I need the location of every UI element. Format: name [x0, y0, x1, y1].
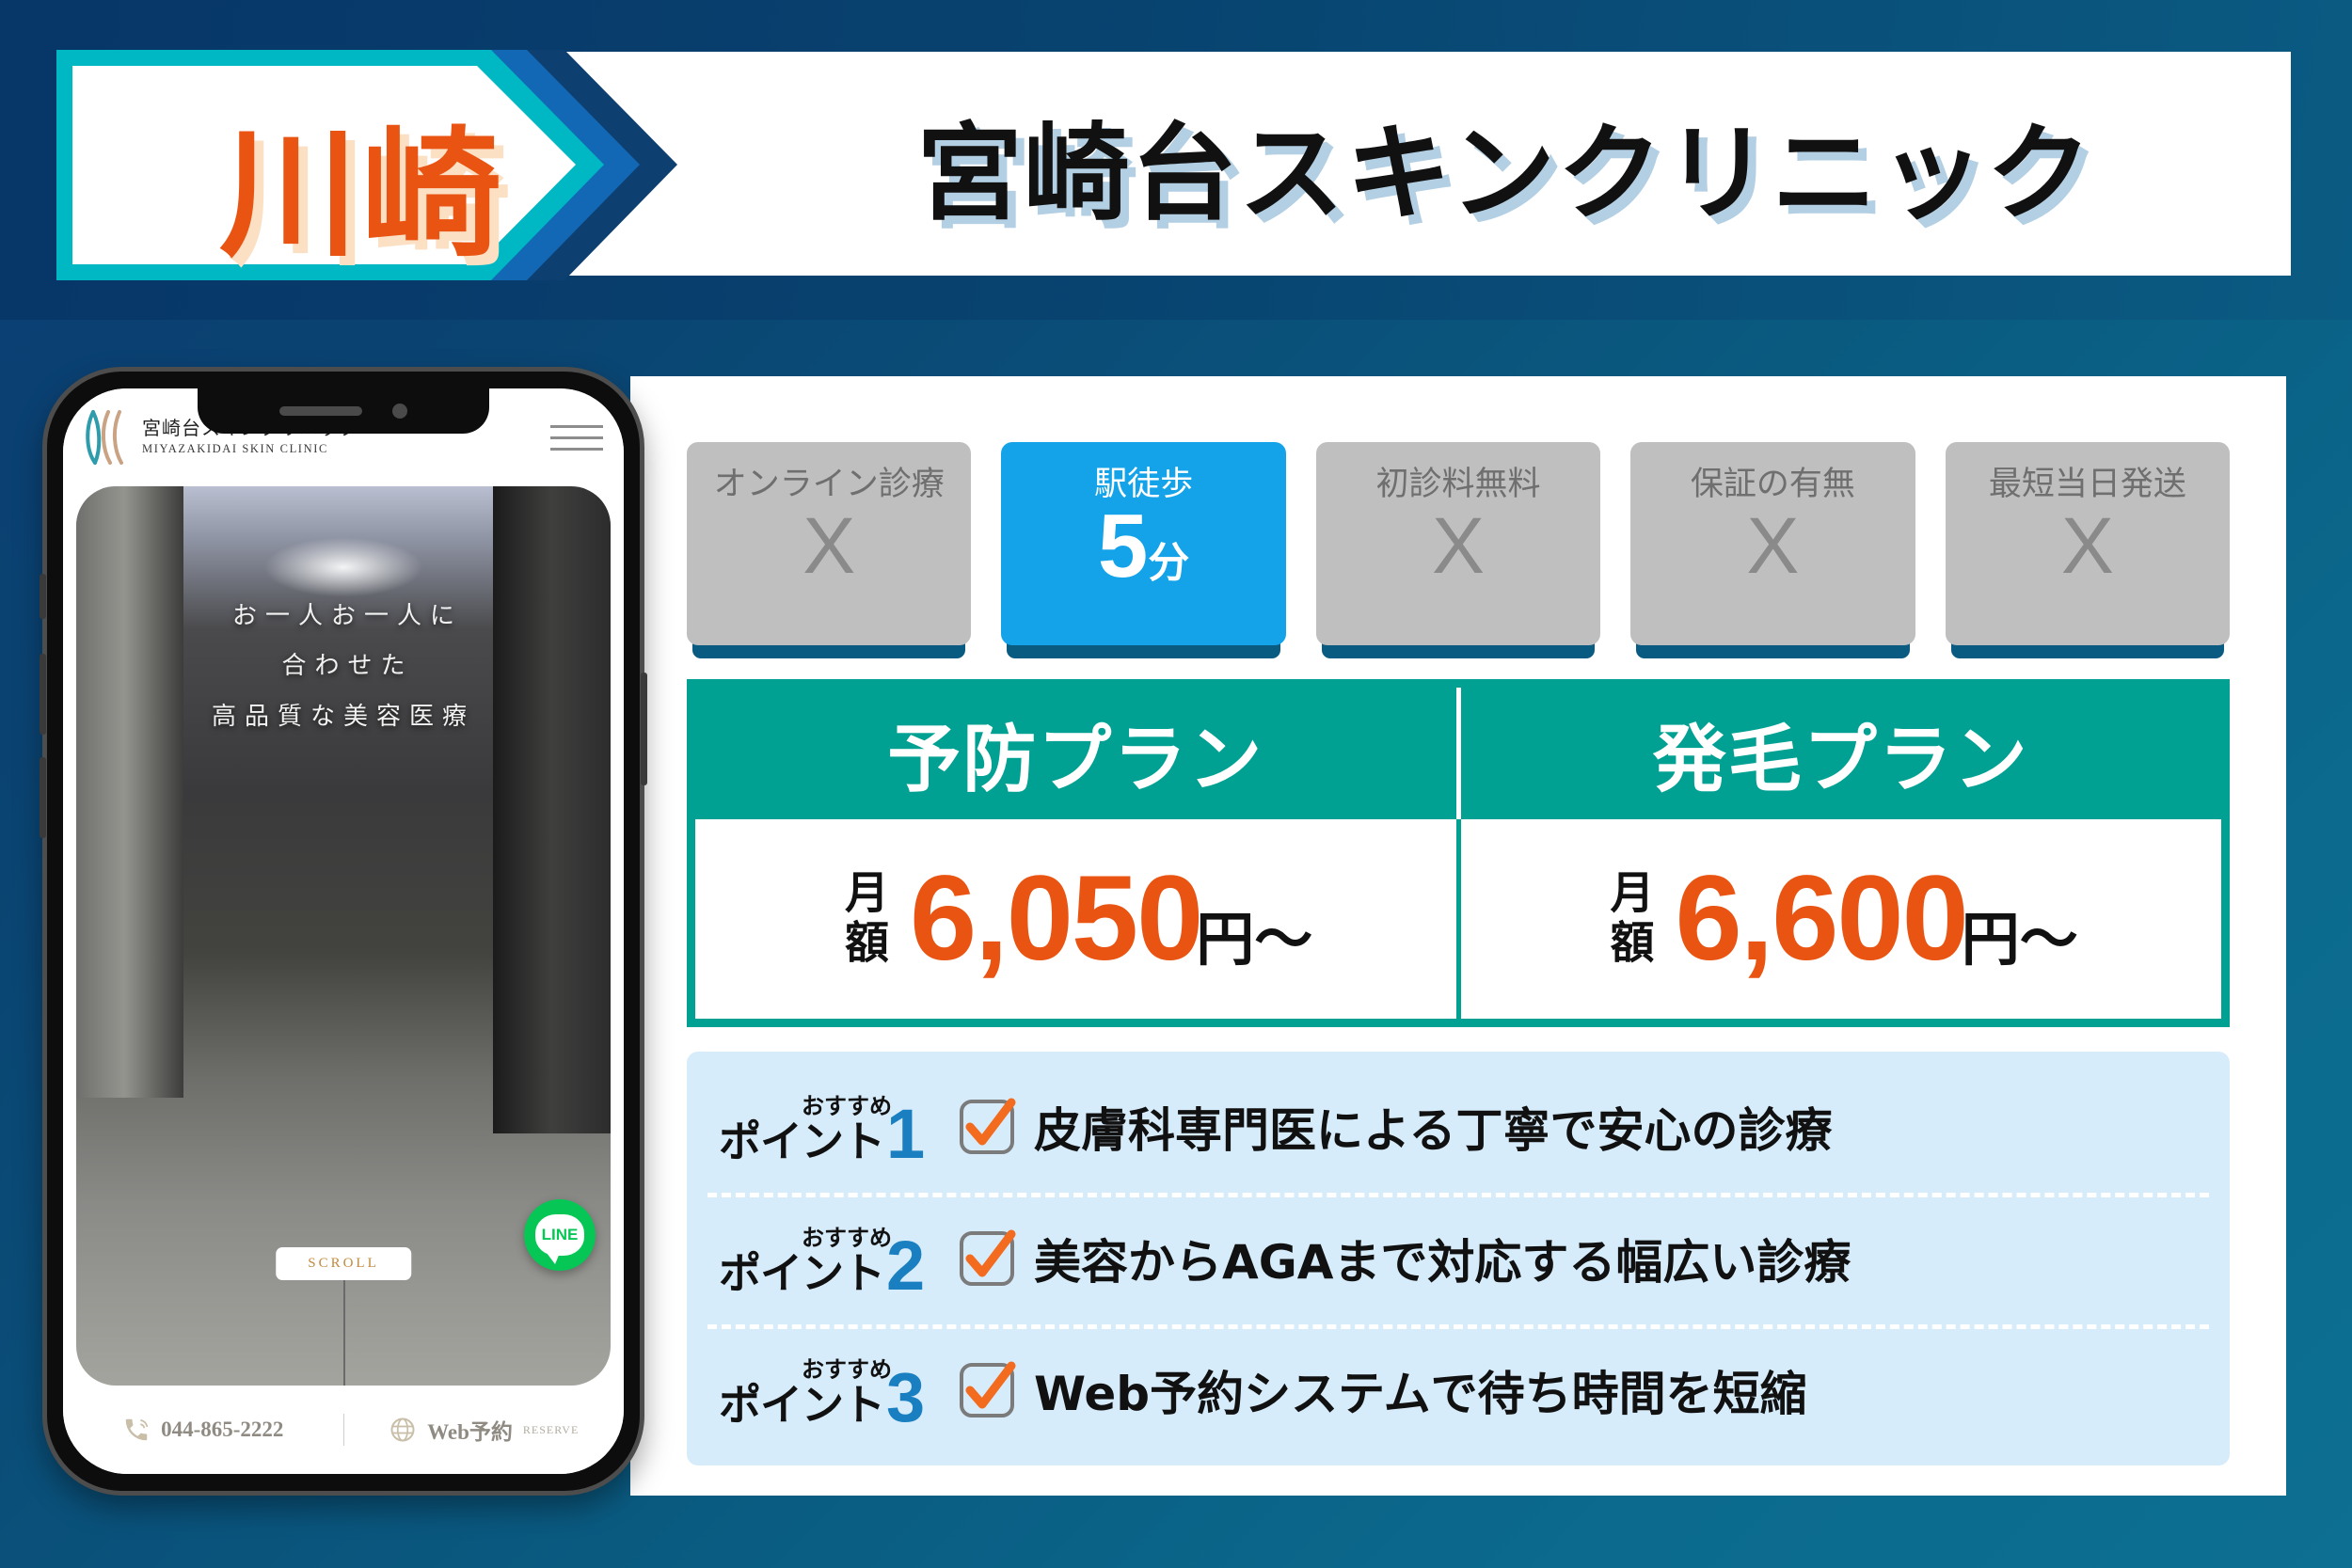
badge-face: オンライン診療 X: [687, 442, 971, 645]
plan-name-prevention: 予防プラン: [695, 688, 1456, 819]
phone-screen: 宮崎台スキンクリニック MIYAZAKIDAI SKIN CLINIC お一人お…: [63, 388, 624, 1474]
feature-badge-walk: 駅徒歩 5分: [1001, 442, 1285, 658]
badge-face: 初診料無料 X: [1316, 442, 1600, 645]
point-word-3: ポイント: [719, 1384, 884, 1426]
earpiece-speaker-icon: [279, 406, 362, 416]
phone-volume-down-button: [40, 757, 46, 838]
line-bubble-icon: LINE: [535, 1214, 584, 1256]
point-text-3: Web予約システムで待ち時間を短縮: [1034, 1356, 1807, 1424]
phone-mute-button: [40, 574, 46, 619]
front-camera-icon: [392, 404, 407, 419]
feature-badge-guarantee: 保証の有無 X: [1630, 442, 1915, 658]
badge-face: 駅徒歩 5分: [1001, 442, 1285, 645]
point-row-1: おすすめ ポイント 1 皮膚科専門医による丁寧で安心の診療: [719, 1061, 2198, 1193]
feature-badge-online: オンライン診療 X: [687, 442, 971, 658]
phone-icon: [122, 1416, 151, 1444]
point-row-3: おすすめ ポイント 3 Web予約システムで待ち時間を短縮: [719, 1324, 2198, 1456]
region-tag-label: 川崎: [160, 106, 564, 257]
hero-line-3: 高品質な美容医療: [76, 692, 611, 742]
hero-headline: お一人お一人に 合わせた 高品質な美容医療: [76, 592, 611, 742]
point-kicker-1: おすすめ: [802, 1087, 892, 1120]
plan-price-table: 予防プラン 発毛プラン 月額 6,050円〜 月額 6,600円〜: [687, 679, 2230, 1027]
plan-amount-wrap-growth: 6,600円〜: [1675, 859, 2077, 979]
plan-price-cell-prevention: 月額 6,050円〜: [695, 819, 1456, 1019]
badge-label: 保証の有無: [1691, 457, 1855, 505]
point-text-1: 皮膚科専門医による丁寧で安心の診療: [1034, 1093, 1833, 1161]
phone-power-button: [641, 673, 647, 785]
plan-name-growth: 発毛プラン: [1456, 688, 2222, 819]
point-badge-3: おすすめ ポイント 3: [719, 1354, 940, 1427]
plan-header-row: 予防プラン 発毛プラン: [695, 688, 2221, 819]
hero-line-2: 合わせた: [76, 641, 611, 691]
feature-badge-shipping: 最短当日発送 X: [1946, 442, 2230, 658]
badge-face: 最短当日発送 X: [1946, 442, 2230, 645]
region-tag-chevron: 川崎: [56, 50, 677, 280]
point-word-1: ポイント: [719, 1120, 884, 1163]
point-number-2: 2: [886, 1238, 925, 1295]
point-badge-1: おすすめ ポイント 1: [719, 1091, 940, 1164]
clinic-logo-icon: [84, 408, 133, 467]
point-number-3: 3: [886, 1370, 925, 1427]
web-reserve-button[interactable]: Web予約 RESERVE: [343, 1414, 625, 1446]
phone-notch: [198, 388, 489, 434]
reserve-sublabel: RESERVE: [523, 1423, 579, 1437]
badge-value: X: [1432, 509, 1485, 584]
plan-suffix-prevention: 円〜: [1196, 905, 1312, 974]
badge-label: 初診料無料: [1376, 457, 1541, 505]
badge-value: 5分: [1098, 503, 1189, 589]
badge-face: 保証の有無 X: [1630, 442, 1915, 645]
plan-price-growth: 6,600: [1675, 851, 1966, 986]
scroll-label: SCROLL: [276, 1247, 411, 1280]
scroll-indicator-line: [343, 1280, 345, 1386]
phone-volume-up-button: [40, 654, 46, 735]
point-row-2: おすすめ ポイント 2 美容からAGAまで対応する幅広い診療: [719, 1193, 2198, 1324]
point-word-2: ポイント: [719, 1252, 884, 1294]
point-kicker-2: おすすめ: [802, 1219, 892, 1252]
point-number-1: 1: [886, 1106, 925, 1164]
site-hero-image: お一人お一人に 合わせた 高品質な美容医療 SCROLL LINE: [76, 486, 611, 1386]
phone-number: 044-865-2222: [161, 1418, 283, 1442]
plan-price-prevention: 6,050: [910, 851, 1201, 986]
hamburger-icon[interactable]: [550, 417, 603, 459]
clinic-name-title: 宮崎台スキンクリニック: [715, 52, 2296, 277]
point-badge-2: おすすめ ポイント 2: [719, 1223, 940, 1295]
site-bottom-bar: 044-865-2222 Web予約 RESERVE: [63, 1386, 624, 1474]
badge-label: オンライン診療: [714, 457, 945, 505]
plan-suffix-growth: 円〜: [1962, 905, 2078, 974]
badge-value: X: [2061, 509, 2114, 584]
point-kicker-3: おすすめ: [802, 1351, 892, 1384]
site-logo-en: MIYAZAKIDAI SKIN CLINIC: [142, 443, 358, 455]
line-chat-button[interactable]: LINE: [524, 1199, 596, 1271]
badge-value: X: [803, 509, 855, 584]
feature-badge-firstvisit: 初診料無料 X: [1316, 442, 1600, 658]
plan-period-prevention: 月額: [838, 869, 885, 969]
plan-amount-wrap-prevention: 6,050円〜: [910, 859, 1312, 979]
line-badge-label: LINE: [542, 1226, 579, 1244]
hero-line-1: お一人お一人に: [76, 592, 611, 641]
check-square-icon: [957, 1360, 1017, 1420]
plan-price-cell-growth: 月額 6,600円〜: [1456, 819, 2222, 1019]
globe-icon: [389, 1416, 417, 1444]
phone-mockup: 宮崎台スキンクリニック MIYAZAKIDAI SKIN CLINIC お一人お…: [42, 367, 644, 1496]
badge-value: X: [1746, 509, 1799, 584]
reserve-label: Web予約: [427, 1414, 513, 1446]
check-square-icon: [957, 1097, 1017, 1157]
point-text-2: 美容からAGAまで対応する幅広い診療: [1034, 1225, 1851, 1292]
plan-period-growth: 月額: [1604, 869, 1651, 969]
plan-price-row: 月額 6,050円〜 月額 6,600円〜: [695, 819, 2221, 1019]
phone-call-button[interactable]: 044-865-2222: [63, 1416, 343, 1444]
check-square-icon: [957, 1228, 1017, 1289]
feature-badge-row: オンライン診療 X 駅徒歩 5分 初診料無料 X 保証の有無 X 最短当日発送 …: [687, 442, 2230, 658]
recommend-points-panel: おすすめ ポイント 1 皮膚科専門医による丁寧で安心の診療 おすすめ ポイント …: [687, 1052, 2230, 1465]
badge-label: 最短当日発送: [1989, 457, 2186, 505]
